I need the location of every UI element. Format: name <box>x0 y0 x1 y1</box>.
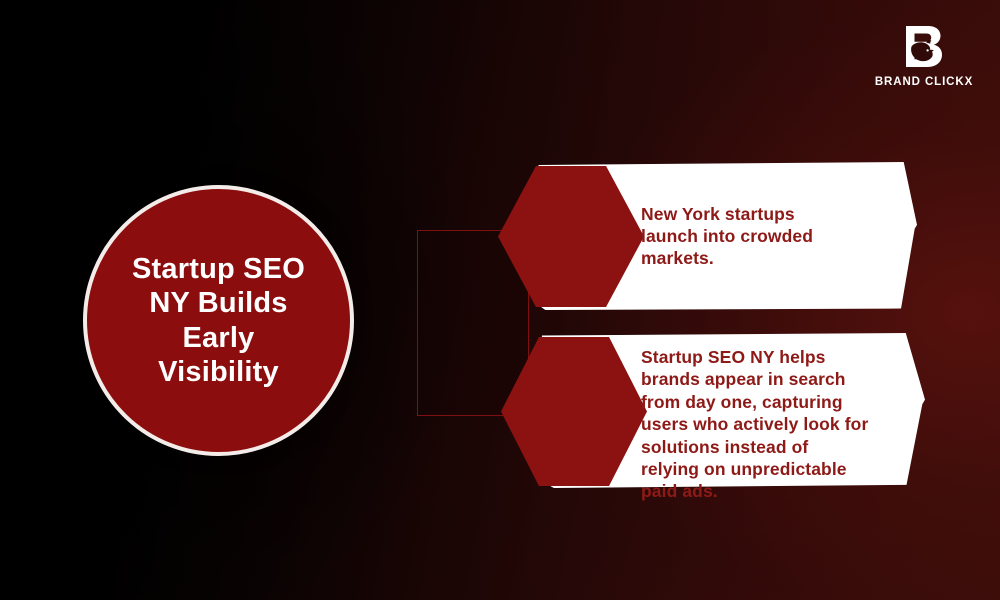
brand-wordmark: BRAND CLICKX <box>870 76 978 88</box>
card-body-2: Startup SEO NY helps brands appear in se… <box>641 346 891 503</box>
hero-circle-title: Startup SEO NY Builds Early Visibility <box>114 252 323 390</box>
hero-circle: Startup SEO NY Builds Early Visibility <box>83 185 354 456</box>
infographic-canvas: BRAND CLICKX Startup SEO NY Builds Early… <box>0 0 1000 600</box>
brand-logo: BRAND CLICKX <box>870 24 978 88</box>
brand-monogram-icon <box>898 24 950 70</box>
card-body-1: New York startups launch into crowded ma… <box>641 203 891 270</box>
